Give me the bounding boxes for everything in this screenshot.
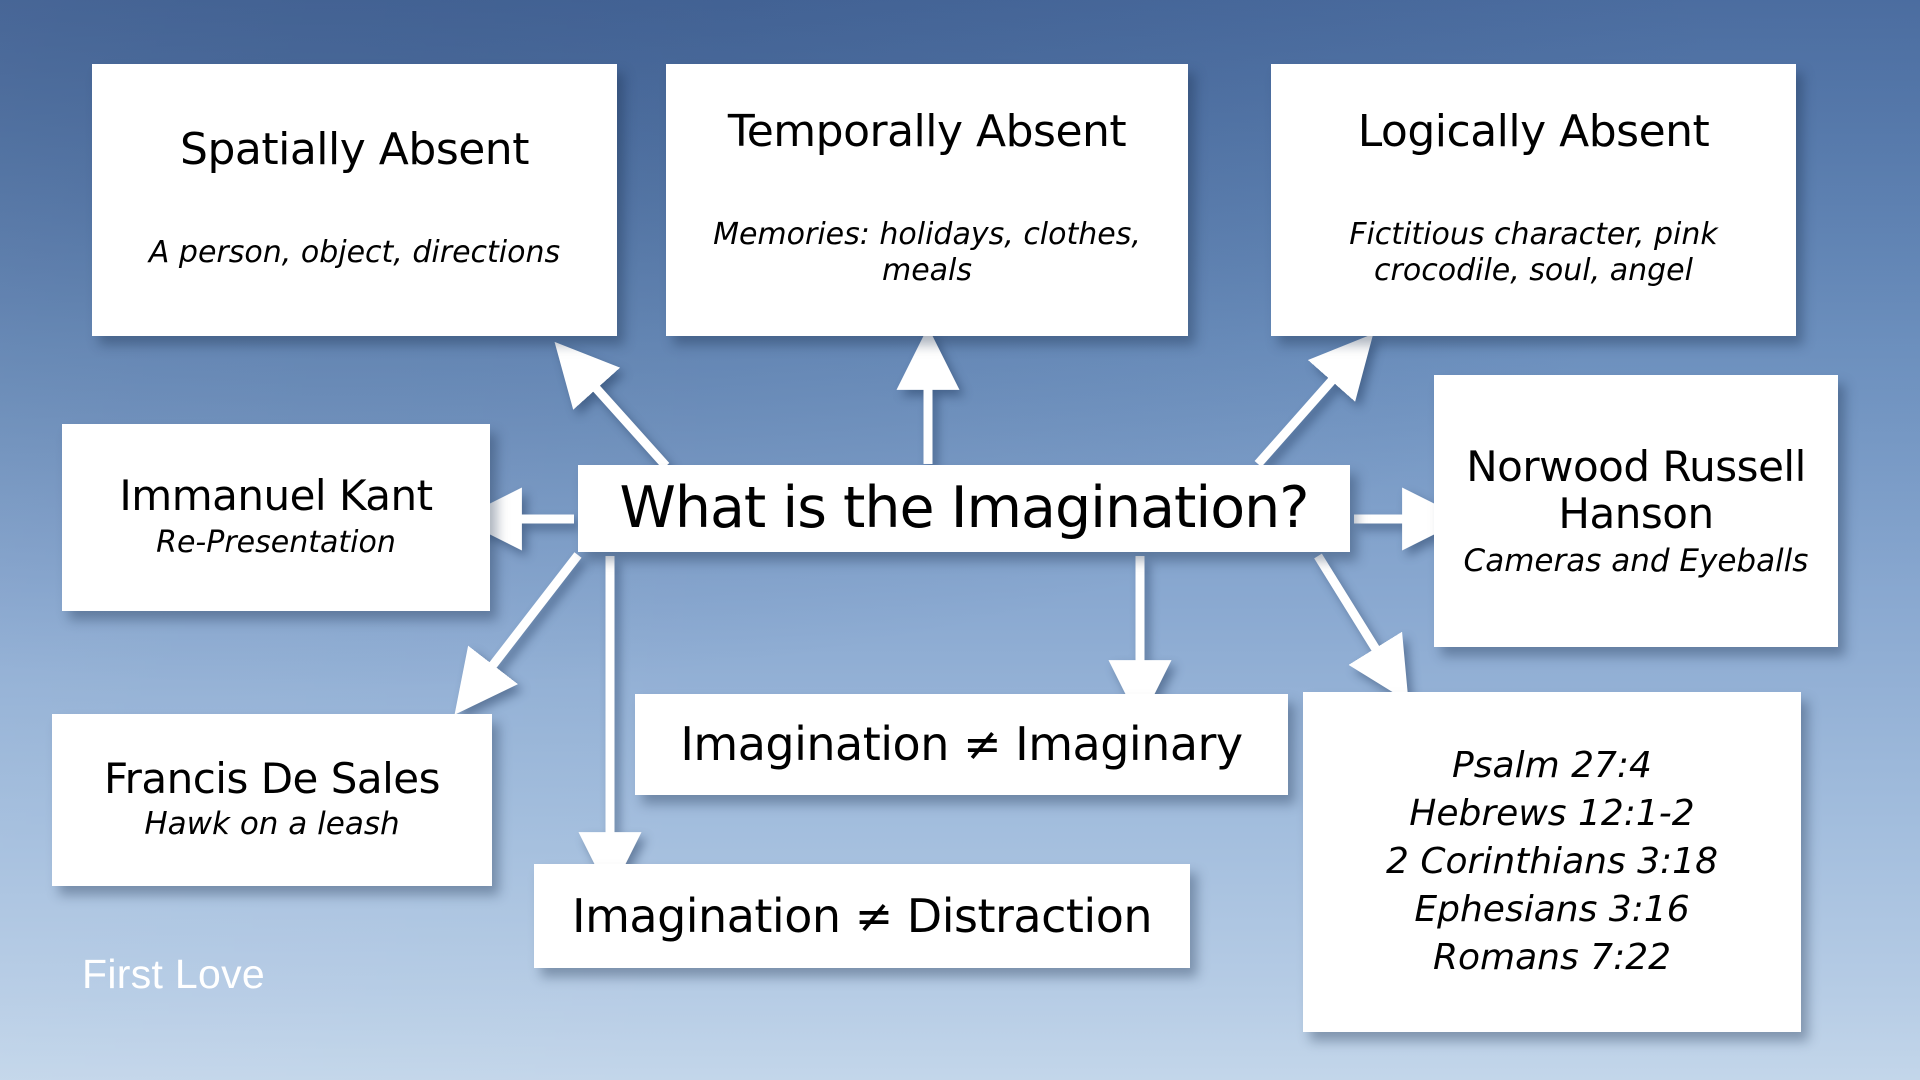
arrow-center-to-spatial xyxy=(578,368,666,466)
verse-reference: 2 Corinthians 3:18 xyxy=(1386,838,1718,886)
central-question-text: What is the Imagination? xyxy=(620,478,1309,538)
card-title: Imagination ≠ Imaginary xyxy=(680,720,1242,769)
arrow-center-to-logical xyxy=(1258,360,1350,464)
brand-label: First Love xyxy=(82,951,265,998)
card-subtitle: Re-Presentation xyxy=(156,525,396,561)
card-imagination-not-distraction[interactable]: Imagination ≠ Distraction xyxy=(534,864,1190,968)
card-imagination-not-imaginary[interactable]: Imagination ≠ Imaginary xyxy=(635,694,1288,795)
card-subtitle: A person, object, directions xyxy=(149,235,560,271)
card-subtitle: Memories: holidays, clothes, meals xyxy=(697,217,1157,289)
card-logically-absent[interactable]: Logically Absent Fictitious character, p… xyxy=(1271,64,1796,336)
card-title: Norwood Russell Hanson xyxy=(1446,443,1826,537)
arrow-center-to-desales xyxy=(476,555,578,687)
card-subtitle: Fictitious character, pink crocodile, so… xyxy=(1304,217,1764,289)
card-title: Logically Absent xyxy=(1358,109,1710,156)
card-francis-de-sales[interactable]: Francis De Sales Hawk on a leash xyxy=(52,714,492,886)
verse-reference: Hebrews 12:1-2 xyxy=(1409,790,1694,838)
card-norwood-russell-hanson[interactable]: Norwood Russell Hanson Cameras and Eyeba… xyxy=(1434,375,1838,647)
card-title: Francis De Sales xyxy=(104,757,440,802)
verse-reference: Psalm 27:4 xyxy=(1452,742,1652,790)
card-subtitle: Hawk on a leash xyxy=(144,806,399,843)
verse-reference: Ephesians 3:16 xyxy=(1414,886,1689,934)
card-title: Temporally Absent xyxy=(728,109,1126,156)
card-title: Immanuel Kant xyxy=(119,474,432,519)
card-central-question[interactable]: What is the Imagination? xyxy=(578,465,1350,552)
card-title: Imagination ≠ Distraction xyxy=(572,892,1152,941)
card-temporally-absent[interactable]: Temporally Absent Memories: holidays, cl… xyxy=(666,64,1188,336)
card-subtitle: Cameras and Eyeballs xyxy=(1464,543,1809,580)
slide-canvas: Spatially Absent A person, object, direc… xyxy=(0,0,1920,1080)
card-scripture-references[interactable]: Psalm 27:4 Hebrews 12:1-2 2 Corinthians … xyxy=(1303,692,1801,1032)
card-title: Spatially Absent xyxy=(180,127,529,174)
arrow-center-to-verses xyxy=(1318,556,1390,672)
verse-reference: Romans 7:22 xyxy=(1433,934,1671,982)
card-immanuel-kant[interactable]: Immanuel Kant Re-Presentation xyxy=(62,424,490,611)
card-spatially-absent[interactable]: Spatially Absent A person, object, direc… xyxy=(92,64,617,336)
